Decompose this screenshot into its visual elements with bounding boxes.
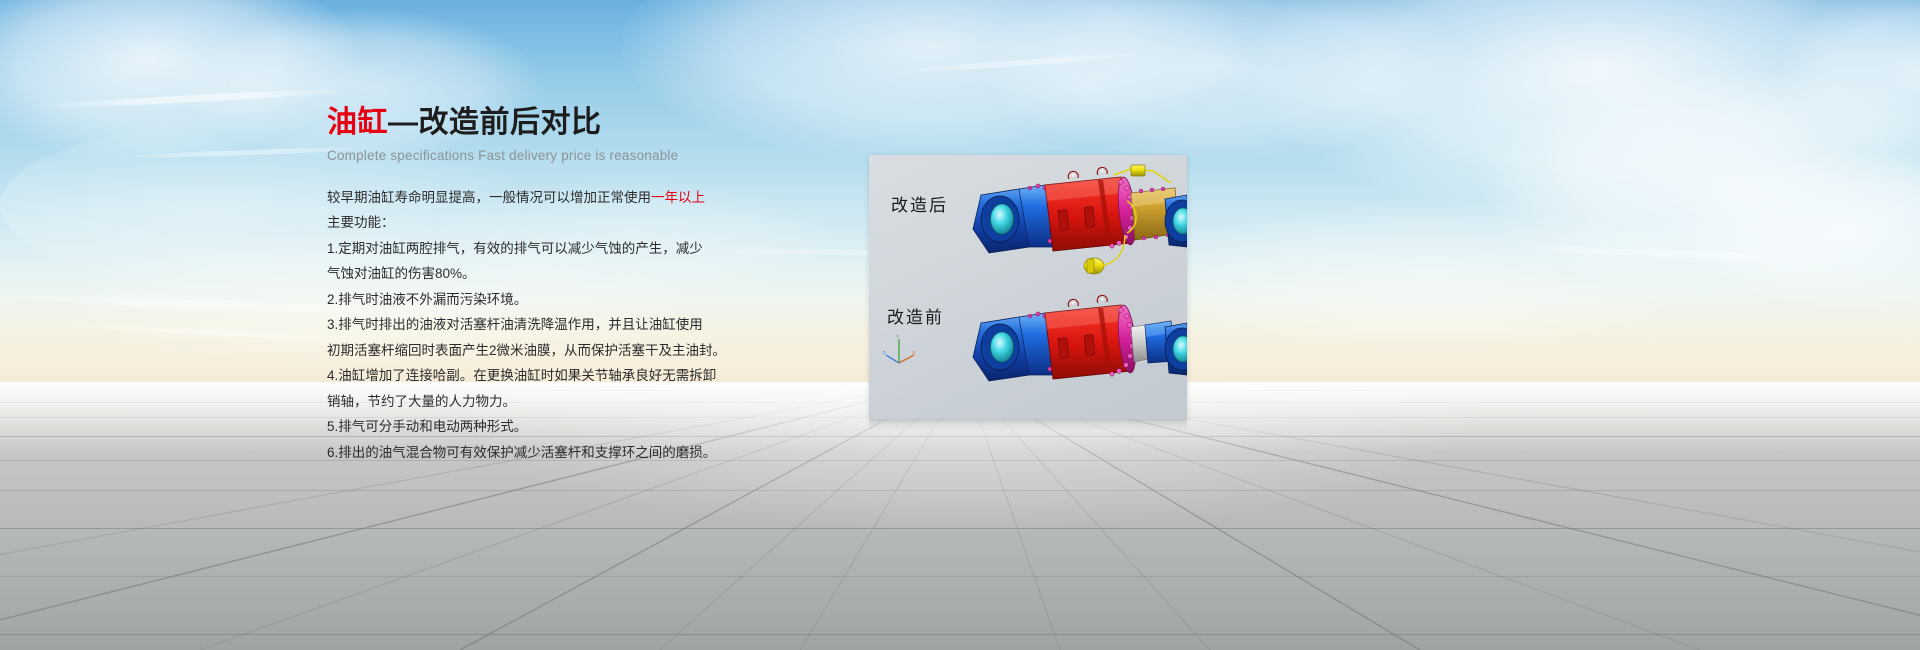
svg-text:Y: Y [896,334,899,339]
intro-prefix: 较早期油缸寿命明显提高，一般情况可以增加正常使用 [327,190,651,205]
intro-line: 较早期油缸寿命明显提高，一般情况可以增加正常使用一年以上 [327,185,887,211]
cloud-shape [0,0,360,160]
feature-line: 销轴，节约了大量的人力物力。 [327,389,887,415]
cloud-streak [1480,243,1860,263]
banner-copy: 油缸—改造前后对比 Complete specifications Fast d… [327,104,887,465]
cloud-shape [980,0,1460,160]
feature-line: 初期活塞杆缩回时表面产生2微米油膜，从而保护活塞干及主油封。 [327,338,887,364]
feature-line: 3.排气时排出的油液对活塞杆油清洗降温作用，并且让油缸使用 [327,312,887,338]
cylinder-after-group [973,165,1187,274]
ground-joint-line [0,634,1920,635]
plaza-ground [0,382,1920,650]
page-title-rest: —改造前后对比 [388,106,602,139]
feature-line: 气蚀对油缸的伤害80%。 [327,261,887,287]
label-after-modification: 改造后 [891,191,948,216]
cloud-shape [1780,0,1920,160]
cloud-streak [30,86,360,110]
feature-line: 6.排出的油气混合物可有效保护减少活塞杆和支撑环之间的磨损。 [327,440,887,466]
page-subtitle: Complete specifications Fast delivery pr… [327,148,887,163]
section-heading: 主要功能： [327,210,887,236]
ground-joint-line [0,460,1920,461]
page-title-highlight: 油缸 [327,106,388,139]
svg-text:Z: Z [883,350,886,355]
cloud-shape [1480,70,1920,300]
page-title: 油缸—改造前后对比 [327,104,887,142]
intro-highlight: 一年以上 [651,190,705,205]
feature-line: 1.定期对油缸两腔排气，有效的排气可以减少气蚀的产生，减少 [327,236,887,262]
ground-joint-line [0,576,1920,577]
cloud-shape [1150,200,1710,350]
cloud-shape [1680,150,1920,310]
feature-line: 5.排气可分手动和电动两种形式。 [327,414,887,440]
feature-line: 4.油缸增加了连接哈副。在更换油缸时如果关节轴承良好无需拆卸 [327,363,887,389]
ground-joint-line [0,490,1920,491]
banner-stage: 油缸—改造前后对比 Complete specifications Fast d… [0,0,1920,650]
svg-text:X: X [912,350,915,355]
cylinder-before-group [973,295,1187,381]
product-comparison-panel[interactable]: Y Z X 改造后 改造前 [869,155,1187,419]
feature-text-block: 较早期油缸寿命明显提高，一般情况可以增加正常使用一年以上 主要功能： 1.定期对… [327,185,887,466]
feature-line: 2.排气时油液不外漏而污染环境。 [327,287,887,313]
cloud-shape [1250,0,1920,220]
coordinate-axis-icon: Y Z X [883,333,917,367]
ground-joint-line [0,528,1920,529]
cloud-streak [890,51,1150,75]
label-before-modification: 改造前 [887,303,944,328]
